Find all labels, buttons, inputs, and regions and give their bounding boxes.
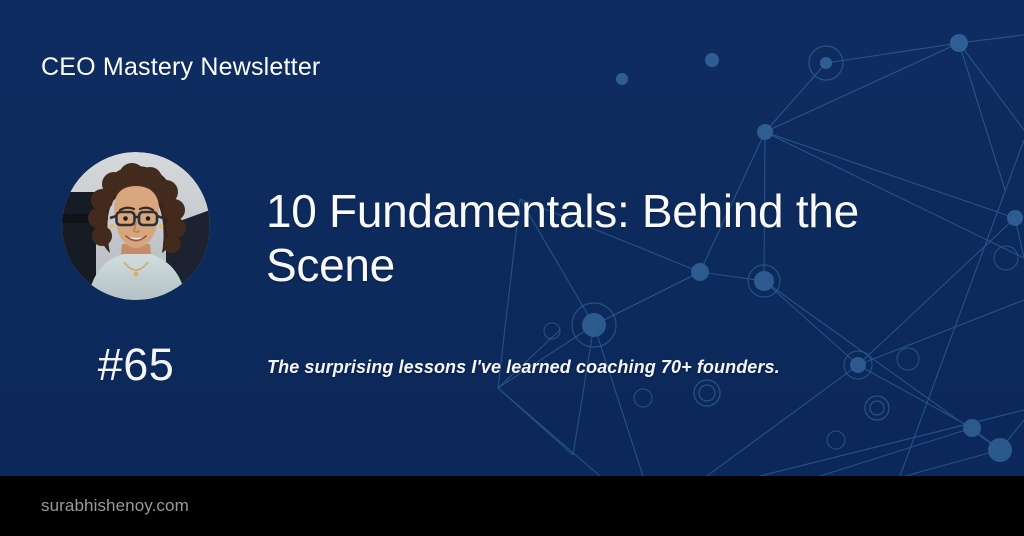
banner-stage: CEO Mastery Newsletter: [0, 0, 1024, 476]
issue-number: #65: [62, 342, 210, 387]
newsletter-banner: CEO Mastery Newsletter: [0, 0, 1024, 536]
brand-title: CEO Mastery Newsletter: [41, 53, 320, 82]
avatar: [62, 152, 210, 300]
subheadline: The surprising lessons I've learned coac…: [267, 357, 780, 378]
avatar-portrait-illustration: [62, 152, 210, 300]
headline: 10 Fundamentals: Behind the Scene: [266, 184, 982, 293]
footer-bar: surabhishenoy.com: [0, 476, 1024, 536]
footer-website-url: surabhishenoy.com: [41, 496, 189, 516]
